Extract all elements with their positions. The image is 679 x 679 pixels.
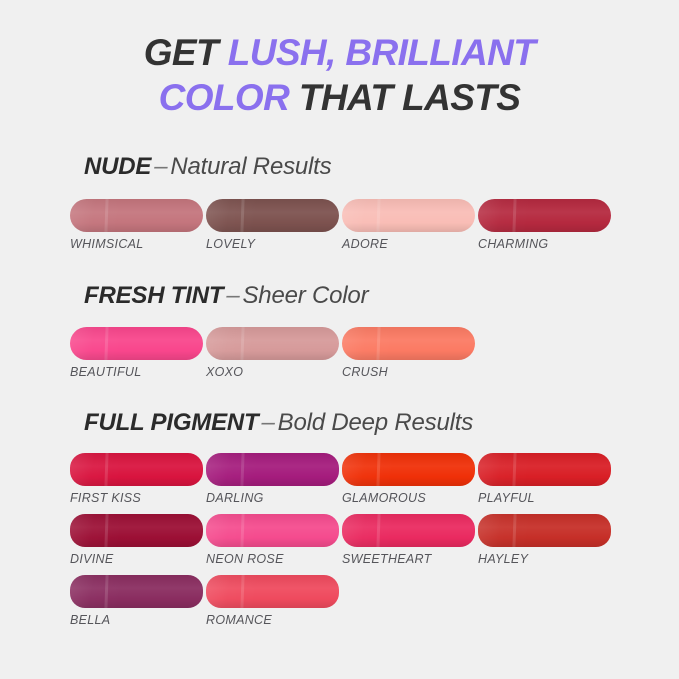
shade-label: ROMANCE bbox=[206, 613, 339, 627]
shade-label: GLAMOROUS bbox=[342, 491, 475, 505]
section-header-nude: NUDE–Natural Results bbox=[84, 153, 331, 181]
shade-swatch-neon-rose[interactable] bbox=[206, 514, 339, 547]
shade-label: WHIMSICAL bbox=[70, 237, 203, 251]
section-title: FRESH TINT bbox=[84, 282, 223, 309]
shade-label: DARLING bbox=[206, 491, 339, 505]
shade-swatch-lovely[interactable] bbox=[206, 199, 339, 232]
shade-swatch-charming[interactable] bbox=[478, 199, 611, 232]
shade-label: SWEETHEART bbox=[342, 552, 475, 566]
shade-label: LOVELY bbox=[206, 237, 339, 251]
section-title: NUDE bbox=[84, 153, 151, 180]
page-title-line-2: COLOR THAT LASTS bbox=[0, 75, 679, 120]
swatch-cell[interactable]: HAYLEY bbox=[478, 514, 611, 566]
swatch-cell[interactable]: CHARMING bbox=[478, 199, 611, 251]
swatch-cell[interactable]: LOVELY bbox=[206, 199, 339, 251]
shade-swatch-adore[interactable] bbox=[342, 199, 475, 232]
section-header-full-pigment: FULL PIGMENT–Bold Deep Results bbox=[84, 409, 473, 437]
section-header-fresh-tint: FRESH TINT–Sheer Color bbox=[84, 282, 368, 310]
shade-label: CHARMING bbox=[478, 237, 611, 251]
swatch-cell[interactable]: DARLING bbox=[206, 453, 339, 505]
shade-label: HAYLEY bbox=[478, 552, 611, 566]
shade-label: BELLA bbox=[70, 613, 203, 627]
shade-label: CRUSH bbox=[342, 365, 475, 379]
section-title-dash: – bbox=[151, 153, 170, 180]
swatch-cell[interactable]: ROMANCE bbox=[206, 575, 339, 627]
section-title: FULL PIGMENT bbox=[84, 409, 258, 436]
shade-chart-page: GET LUSH, BRILLIANT COLOR THAT LASTS NUD… bbox=[0, 0, 679, 679]
shade-swatch-glamorous[interactable] bbox=[342, 453, 475, 486]
swatch-cell[interactable]: GLAMOROUS bbox=[342, 453, 475, 505]
section-subtitle: Sheer Color bbox=[243, 282, 369, 309]
shade-label: PLAYFUL bbox=[478, 491, 611, 505]
page-title-part-lush-brilliant: LUSH, BRILLIANT bbox=[228, 32, 536, 73]
shade-swatch-divine[interactable] bbox=[70, 514, 203, 547]
shade-label: XOXO bbox=[206, 365, 339, 379]
swatch-cell[interactable]: PLAYFUL bbox=[478, 453, 611, 505]
shade-swatch-romance[interactable] bbox=[206, 575, 339, 608]
swatch-cell[interactable]: FIRST KISS bbox=[70, 453, 203, 505]
shade-swatch-darling[interactable] bbox=[206, 453, 339, 486]
shade-swatch-beautiful[interactable] bbox=[70, 327, 203, 360]
page-title-part-color: COLOR bbox=[159, 77, 290, 118]
swatch-cell[interactable]: CRUSH bbox=[342, 327, 475, 379]
page-title-part-get: GET bbox=[144, 32, 228, 73]
shade-swatch-playful[interactable] bbox=[478, 453, 611, 486]
section-title-dash: – bbox=[223, 282, 242, 309]
swatch-cell[interactable]: ADORE bbox=[342, 199, 475, 251]
shade-swatch-crush[interactable] bbox=[342, 327, 475, 360]
swatch-cell[interactable]: WHIMSICAL bbox=[70, 199, 203, 251]
shade-label: DIVINE bbox=[70, 552, 203, 566]
section-title-dash: – bbox=[258, 409, 277, 436]
shade-swatch-hayley[interactable] bbox=[478, 514, 611, 547]
shade-label: ADORE bbox=[342, 237, 475, 251]
section-subtitle: Bold Deep Results bbox=[278, 409, 473, 436]
shade-swatch-bella[interactable] bbox=[70, 575, 203, 608]
swatch-cell[interactable]: DIVINE bbox=[70, 514, 203, 566]
swatch-cell[interactable]: NEON ROSE bbox=[206, 514, 339, 566]
swatch-cell[interactable]: BELLA bbox=[70, 575, 203, 627]
shade-label: FIRST KISS bbox=[70, 491, 203, 505]
shade-swatch-xoxo[interactable] bbox=[206, 327, 339, 360]
shade-swatch-whimsical[interactable] bbox=[70, 199, 203, 232]
swatch-cell[interactable]: XOXO bbox=[206, 327, 339, 379]
page-title-part-that-lasts: THAT LASTS bbox=[289, 77, 520, 118]
swatch-cell[interactable]: BEAUTIFUL bbox=[70, 327, 203, 379]
shade-label: BEAUTIFUL bbox=[70, 365, 203, 379]
swatch-cell[interactable]: SWEETHEART bbox=[342, 514, 475, 566]
page-title: GET LUSH, BRILLIANT COLOR THAT LASTS bbox=[0, 30, 679, 120]
page-title-line-1: GET LUSH, BRILLIANT bbox=[0, 30, 679, 75]
shade-label: NEON ROSE bbox=[206, 552, 339, 566]
section-subtitle: Natural Results bbox=[170, 153, 331, 180]
shade-swatch-sweetheart[interactable] bbox=[342, 514, 475, 547]
shade-swatch-first-kiss[interactable] bbox=[70, 453, 203, 486]
